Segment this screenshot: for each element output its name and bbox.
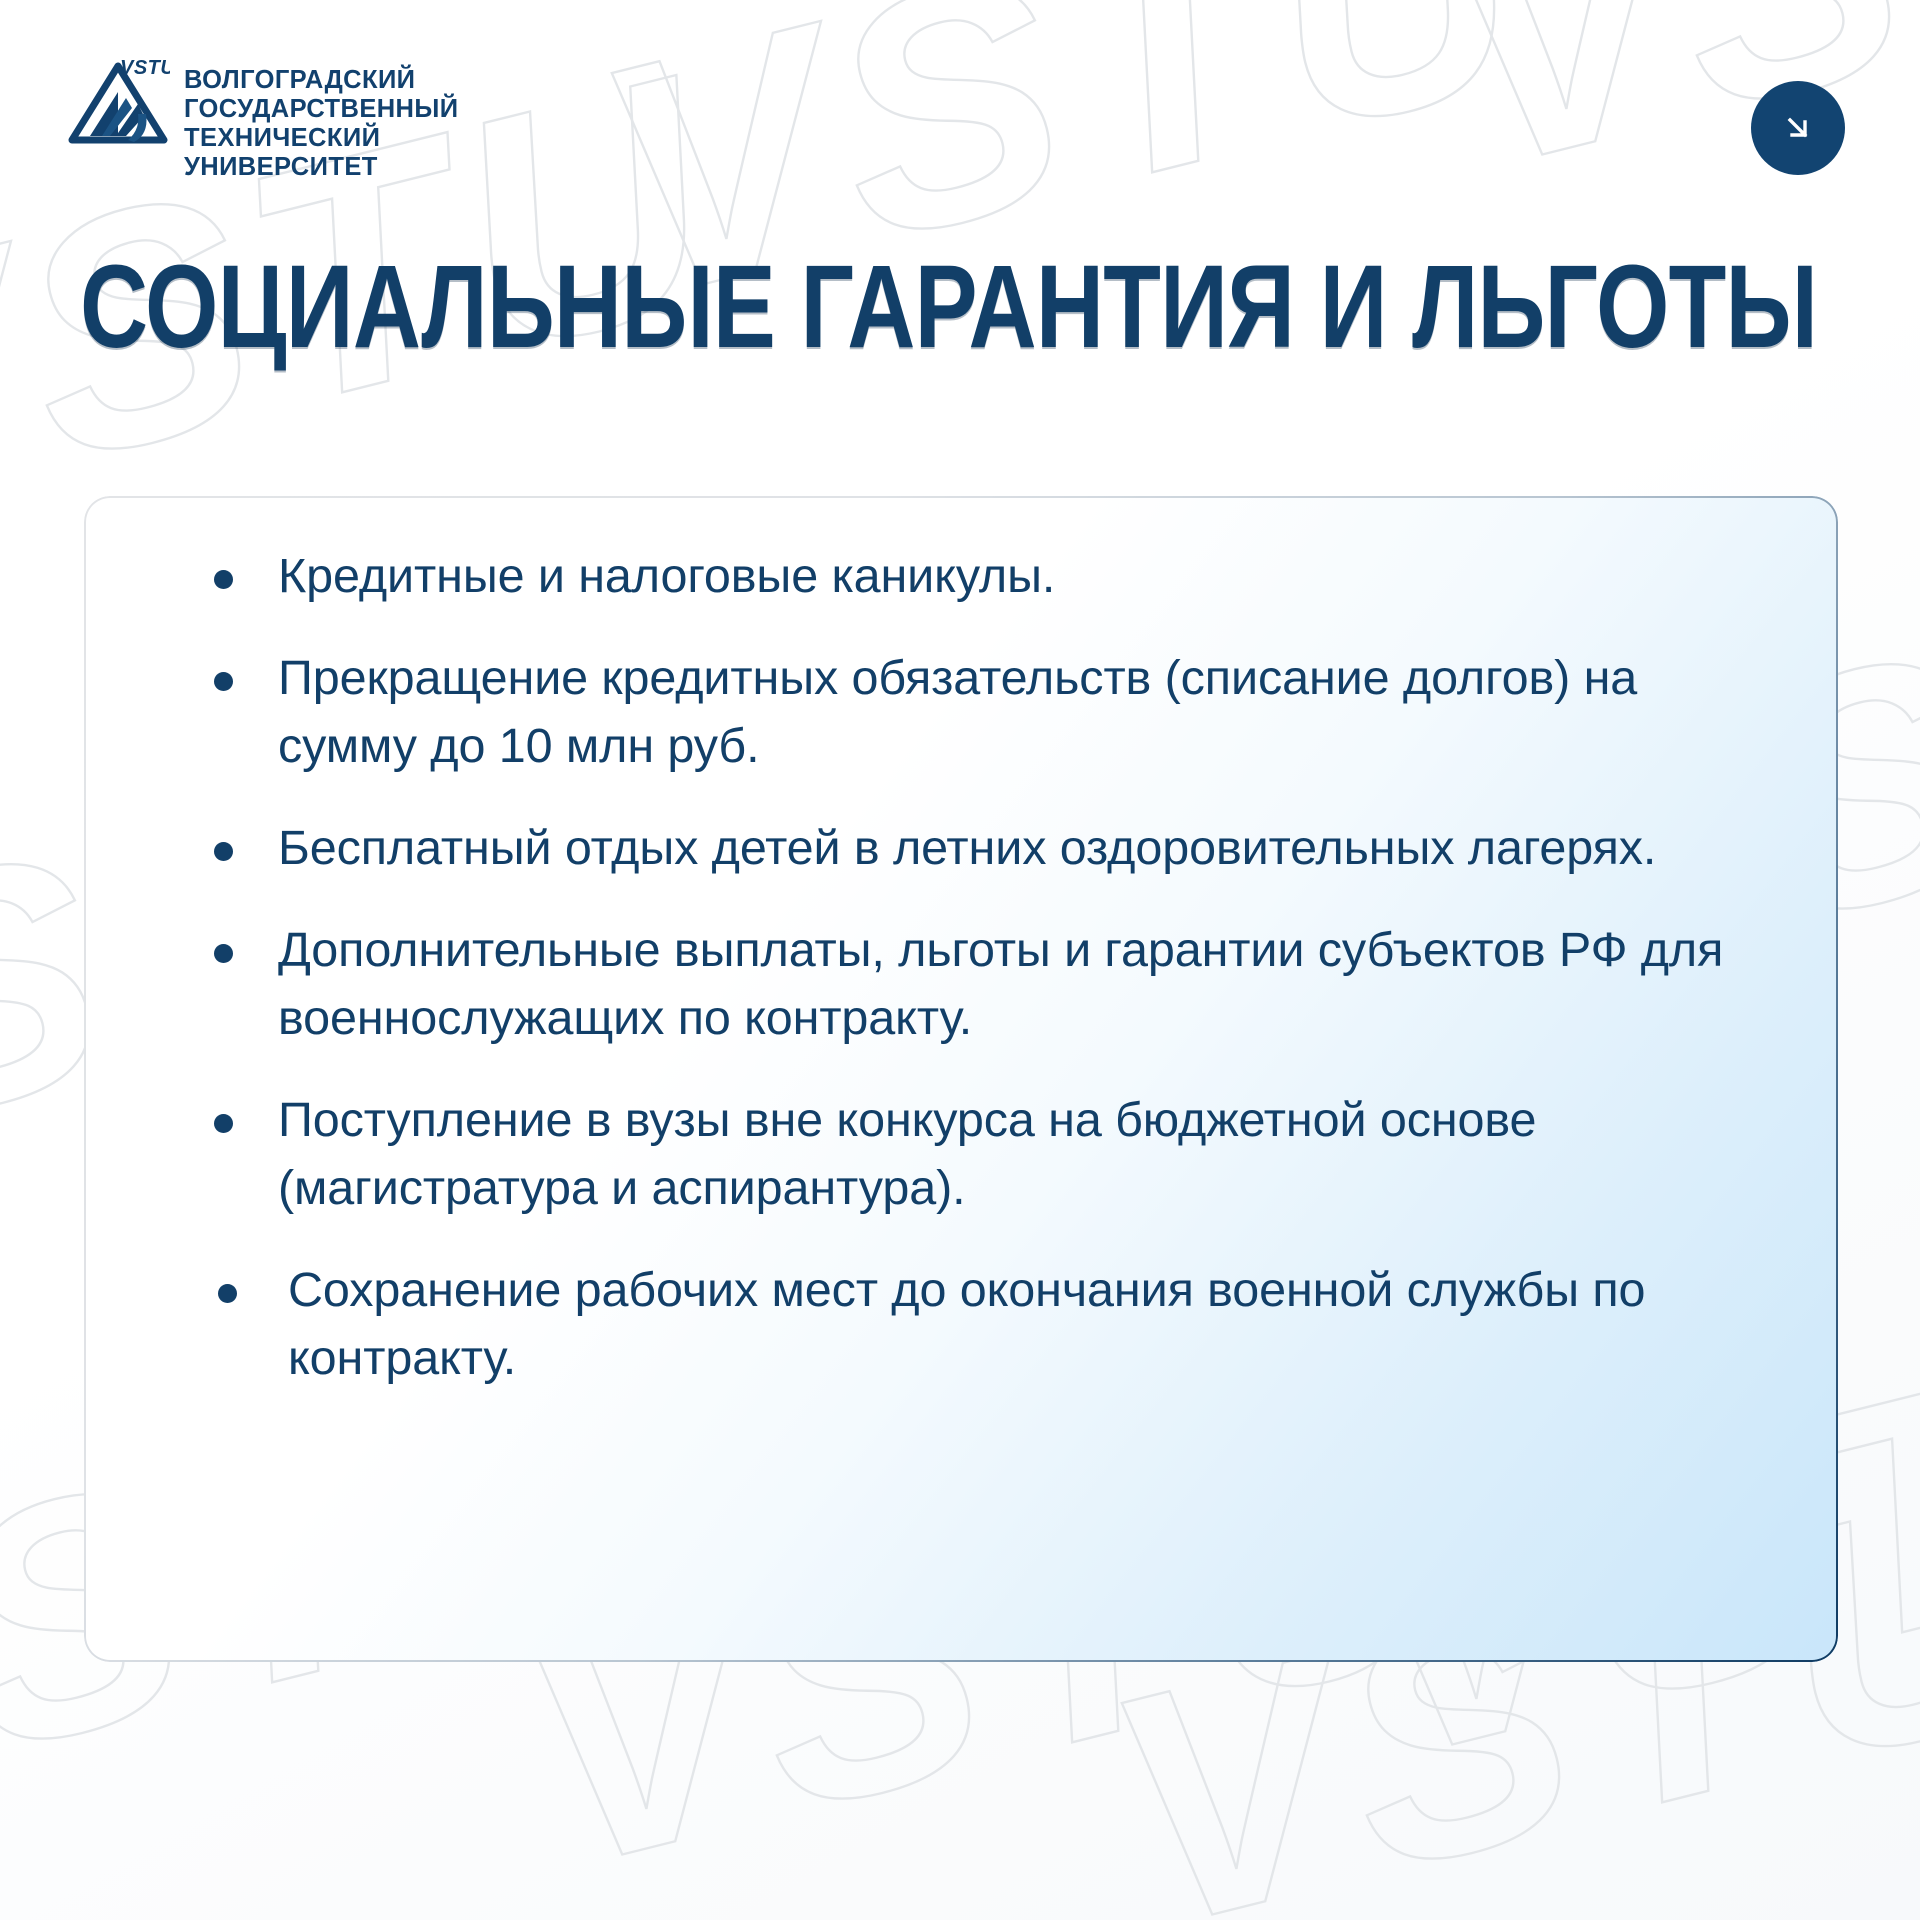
list-item-text: Кредитные и налоговые каникулы. xyxy=(278,549,1055,603)
page-title: СОЦИАЛЬНЫЕ ГАРАНТИЯ И ЛЬГОТЫ xyxy=(80,248,1817,366)
page-header: VSTU ВОЛГОГРАДСКИЙ ГОСУДАРСТВЕННЫЙ ТЕХНИ… xyxy=(0,0,1920,230)
logo-line-3: ТЕХНИЧЕСКИЙ xyxy=(184,124,458,153)
benefits-list: Кредитные и налоговые каникулы. Прекраще… xyxy=(84,542,1838,1392)
arrow-down-right-icon xyxy=(1778,108,1818,148)
logo-line-2: ГОСУДАРСТВЕННЫЙ xyxy=(184,95,458,124)
slide-root: VSTU VSTU VSTU VSTU VSTU VSTU VSTU VSTU … xyxy=(0,0,1920,1920)
list-item-text: Дополнительные выплаты, льготы и гаранти… xyxy=(278,923,1723,1045)
list-item-text: Поступление в вузы вне конкурса на бюдже… xyxy=(278,1093,1536,1215)
list-item: Дополнительные выплаты, льготы и гаранти… xyxy=(192,916,1768,1052)
list-item-text: Бесплатный отдых детей в летних оздорови… xyxy=(278,821,1656,875)
list-item-text: Сохранение рабочих мест до окончания вое… xyxy=(288,1263,1645,1385)
list-item: Сохранение рабочих мест до окончания вое… xyxy=(192,1256,1778,1392)
logo-line-1: ВОЛГОГРАДСКИЙ xyxy=(184,66,458,95)
list-item: Поступление в вузы вне конкурса на бюдже… xyxy=(192,1086,1768,1222)
bullet-dot-icon xyxy=(218,1284,237,1303)
logo-line-4: УНИВЕРСИТЕТ xyxy=(184,153,458,182)
svg-text:VSTU: VSTU xyxy=(120,57,170,79)
list-item: Кредитные и налоговые каникулы. xyxy=(192,542,1768,610)
bullet-dot-icon xyxy=(214,944,233,963)
bullet-dot-icon xyxy=(214,1114,233,1133)
bullet-dot-icon xyxy=(214,672,233,691)
benefits-card: Кредитные и налоговые каникулы. Прекраще… xyxy=(84,496,1838,1662)
bullet-dot-icon xyxy=(214,842,233,861)
list-item-text: Прекращение кредитных обязательств (спис… xyxy=(278,651,1637,773)
list-item: Бесплатный отдых детей в летних оздорови… xyxy=(192,814,1768,882)
next-slide-button[interactable] xyxy=(1751,81,1845,175)
vstu-logo[interactable]: VSTU ВОЛГОГРАДСКИЙ ГОСУДАРСТВЕННЫЙ ТЕХНИ… xyxy=(66,52,458,182)
vstu-wordmark: ВОЛГОГРАДСКИЙ ГОСУДАРСТВЕННЫЙ ТЕХНИЧЕСКИ… xyxy=(184,52,458,182)
vstu-emblem-icon: VSTU xyxy=(66,52,170,156)
bullet-dot-icon xyxy=(214,570,233,589)
list-item: Прекращение кредитных обязательств (спис… xyxy=(192,644,1768,780)
